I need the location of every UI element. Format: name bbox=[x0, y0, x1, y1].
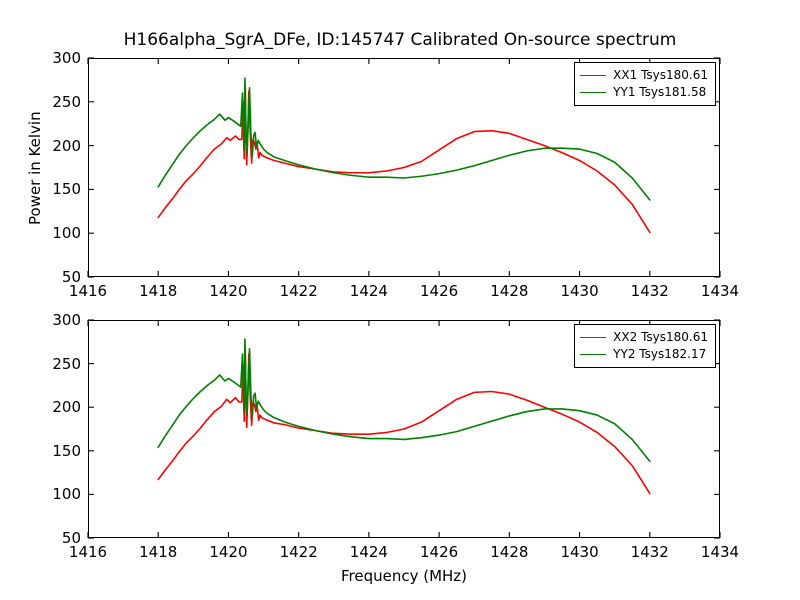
plot-panel-top: 50100150200250300 1416141814201422142414… bbox=[88, 58, 720, 277]
legend-label: YY2 Tsys182.17 bbox=[613, 346, 706, 363]
y-tick-label: 200 bbox=[52, 137, 81, 155]
y-tick-label: 300 bbox=[52, 49, 81, 67]
x-tick-label: 1426 bbox=[420, 543, 458, 561]
x-tick-label: 1424 bbox=[350, 282, 388, 300]
y-tick-label: 250 bbox=[52, 93, 81, 111]
x-tick-label: 1422 bbox=[280, 543, 318, 561]
legend-label: YY1 Tsys181.58 bbox=[613, 84, 706, 101]
x-tick-label: 1418 bbox=[139, 282, 177, 300]
y-tick-label: 250 bbox=[52, 355, 81, 373]
y-tick-label: 100 bbox=[52, 224, 81, 242]
plot-panel-bottom: 50100150200250300 1416141814201422142414… bbox=[88, 320, 720, 538]
x-tick-label: 1430 bbox=[560, 543, 598, 561]
legend-entry: XX1 Tsys180.61 bbox=[580, 67, 708, 84]
y-tick-label: 150 bbox=[52, 442, 81, 460]
y-tick-label: 300 bbox=[52, 311, 81, 329]
x-axis-label: Frequency (MHz) bbox=[341, 567, 467, 585]
x-tick-label: 1434 bbox=[701, 543, 739, 561]
x-tick-label: 1418 bbox=[139, 543, 177, 561]
x-tick-label: 1432 bbox=[631, 282, 669, 300]
legend-entry: XX2 Tsys180.61 bbox=[580, 329, 708, 346]
legend-entry: YY1 Tsys181.58 bbox=[580, 84, 708, 101]
x-tick-label: 1434 bbox=[701, 282, 739, 300]
x-tick-label: 1422 bbox=[280, 282, 318, 300]
legend-label: XX1 Tsys180.61 bbox=[613, 67, 708, 84]
y-tick-label: 150 bbox=[52, 180, 81, 198]
series-line bbox=[158, 86, 650, 232]
x-tick-label: 1420 bbox=[209, 282, 247, 300]
x-tick-label: 1432 bbox=[631, 543, 669, 561]
figure-canvas: H166alpha_SgrA_DFe, ID:145747 Calibrated… bbox=[0, 0, 800, 600]
figure-title: H166alpha_SgrA_DFe, ID:145747 Calibrated… bbox=[0, 30, 800, 50]
x-tick-label: 1430 bbox=[560, 282, 598, 300]
legend-label: XX2 Tsys180.61 bbox=[613, 329, 708, 346]
x-tick-label: 1416 bbox=[69, 282, 107, 300]
x-tick-label: 1420 bbox=[209, 543, 247, 561]
x-tick-label: 1428 bbox=[490, 282, 528, 300]
legend-bottom: XX2 Tsys180.61YY2 Tsys182.17 bbox=[574, 324, 716, 368]
legend-line-swatch-icon bbox=[580, 75, 606, 76]
x-tick-label: 1428 bbox=[490, 543, 528, 561]
x-tick-label: 1416 bbox=[69, 543, 107, 561]
y-axis-label-top: Power in Kelvin bbox=[26, 111, 44, 225]
y-tick-label: 100 bbox=[52, 485, 81, 503]
x-tick-label: 1426 bbox=[420, 282, 458, 300]
series-line bbox=[158, 349, 650, 494]
y-tick-label: 200 bbox=[52, 398, 81, 416]
x-tick-label: 1424 bbox=[350, 543, 388, 561]
legend-line-swatch-icon bbox=[580, 354, 606, 355]
legend-line-swatch-icon bbox=[580, 337, 606, 338]
legend-top: XX1 Tsys180.61YY1 Tsys181.58 bbox=[574, 62, 716, 106]
legend-entry: YY2 Tsys182.17 bbox=[580, 346, 708, 363]
legend-line-swatch-icon bbox=[580, 92, 606, 93]
